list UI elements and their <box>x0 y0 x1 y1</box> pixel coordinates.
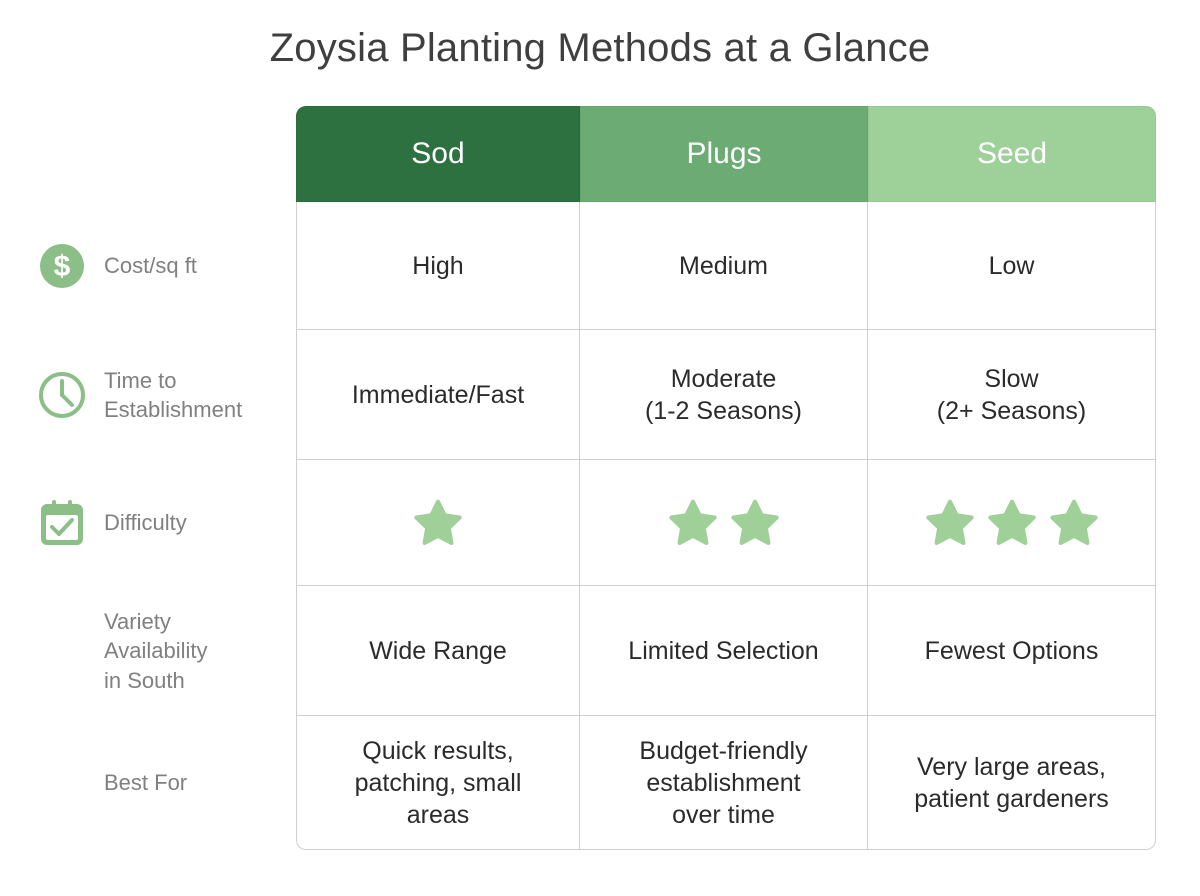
row-label-text: Time to Establishment <box>104 366 242 424</box>
row-label-text: Variety Availability in South <box>104 607 208 694</box>
no-icon-placeholder <box>34 623 90 679</box>
cell-cost-plugs: Medium <box>580 202 868 330</box>
column-header-plugs: Plugs <box>580 106 868 202</box>
cell-best-for-plugs: Budget-friendly establishment over time <box>580 716 868 850</box>
dollar-circle-icon: $ <box>34 238 90 294</box>
no-icon-placeholder <box>34 755 90 811</box>
star-rating <box>414 499 462 547</box>
comparison-table: Sod Plugs Seed $ Cost/sq ft High Medium … <box>34 106 1160 850</box>
row-label-cost: $ Cost/sq ft <box>34 202 296 330</box>
cell-time-sod: Immediate/Fast <box>296 330 580 460</box>
row-label-text: Cost/sq ft <box>104 251 197 280</box>
clock-icon <box>34 367 90 423</box>
cell-variety-sod: Wide Range <box>296 586 580 716</box>
column-header-sod: Sod <box>296 106 580 202</box>
star-rating <box>669 499 779 547</box>
row-label-time: Time to Establishment <box>34 330 296 460</box>
cell-best-for-seed: Very large areas, patient gardeners <box>868 716 1156 850</box>
cell-variety-seed: Fewest Options <box>868 586 1156 716</box>
cell-difficulty-plugs <box>580 460 868 586</box>
svg-text:$: $ <box>54 250 71 283</box>
row-label-text: Difficulty <box>104 508 187 537</box>
row-label-difficulty: Difficulty <box>34 460 296 586</box>
cell-cost-seed: Low <box>868 202 1156 330</box>
cell-cost-sod: High <box>296 202 580 330</box>
cell-time-seed: Slow (2+ Seasons) <box>868 330 1156 460</box>
cell-variety-plugs: Limited Selection <box>580 586 868 716</box>
cell-difficulty-sod <box>296 460 580 586</box>
cell-time-plugs: Moderate (1-2 Seasons) <box>580 330 868 460</box>
row-label-best-for: Best For <box>34 716 296 850</box>
row-label-variety: Variety Availability in South <box>34 586 296 716</box>
cell-best-for-sod: Quick results, patching, small areas <box>296 716 580 850</box>
page-title: Zoysia Planting Methods at a Glance <box>0 26 1200 71</box>
calendar-check-icon <box>34 495 90 551</box>
cell-difficulty-seed <box>868 460 1156 586</box>
table-corner-spacer <box>34 106 296 202</box>
column-header-seed: Seed <box>868 106 1156 202</box>
infographic-page: Zoysia Planting Methods at a Glance Sod … <box>0 0 1200 896</box>
row-label-text: Best For <box>104 768 187 797</box>
star-rating <box>926 499 1098 547</box>
